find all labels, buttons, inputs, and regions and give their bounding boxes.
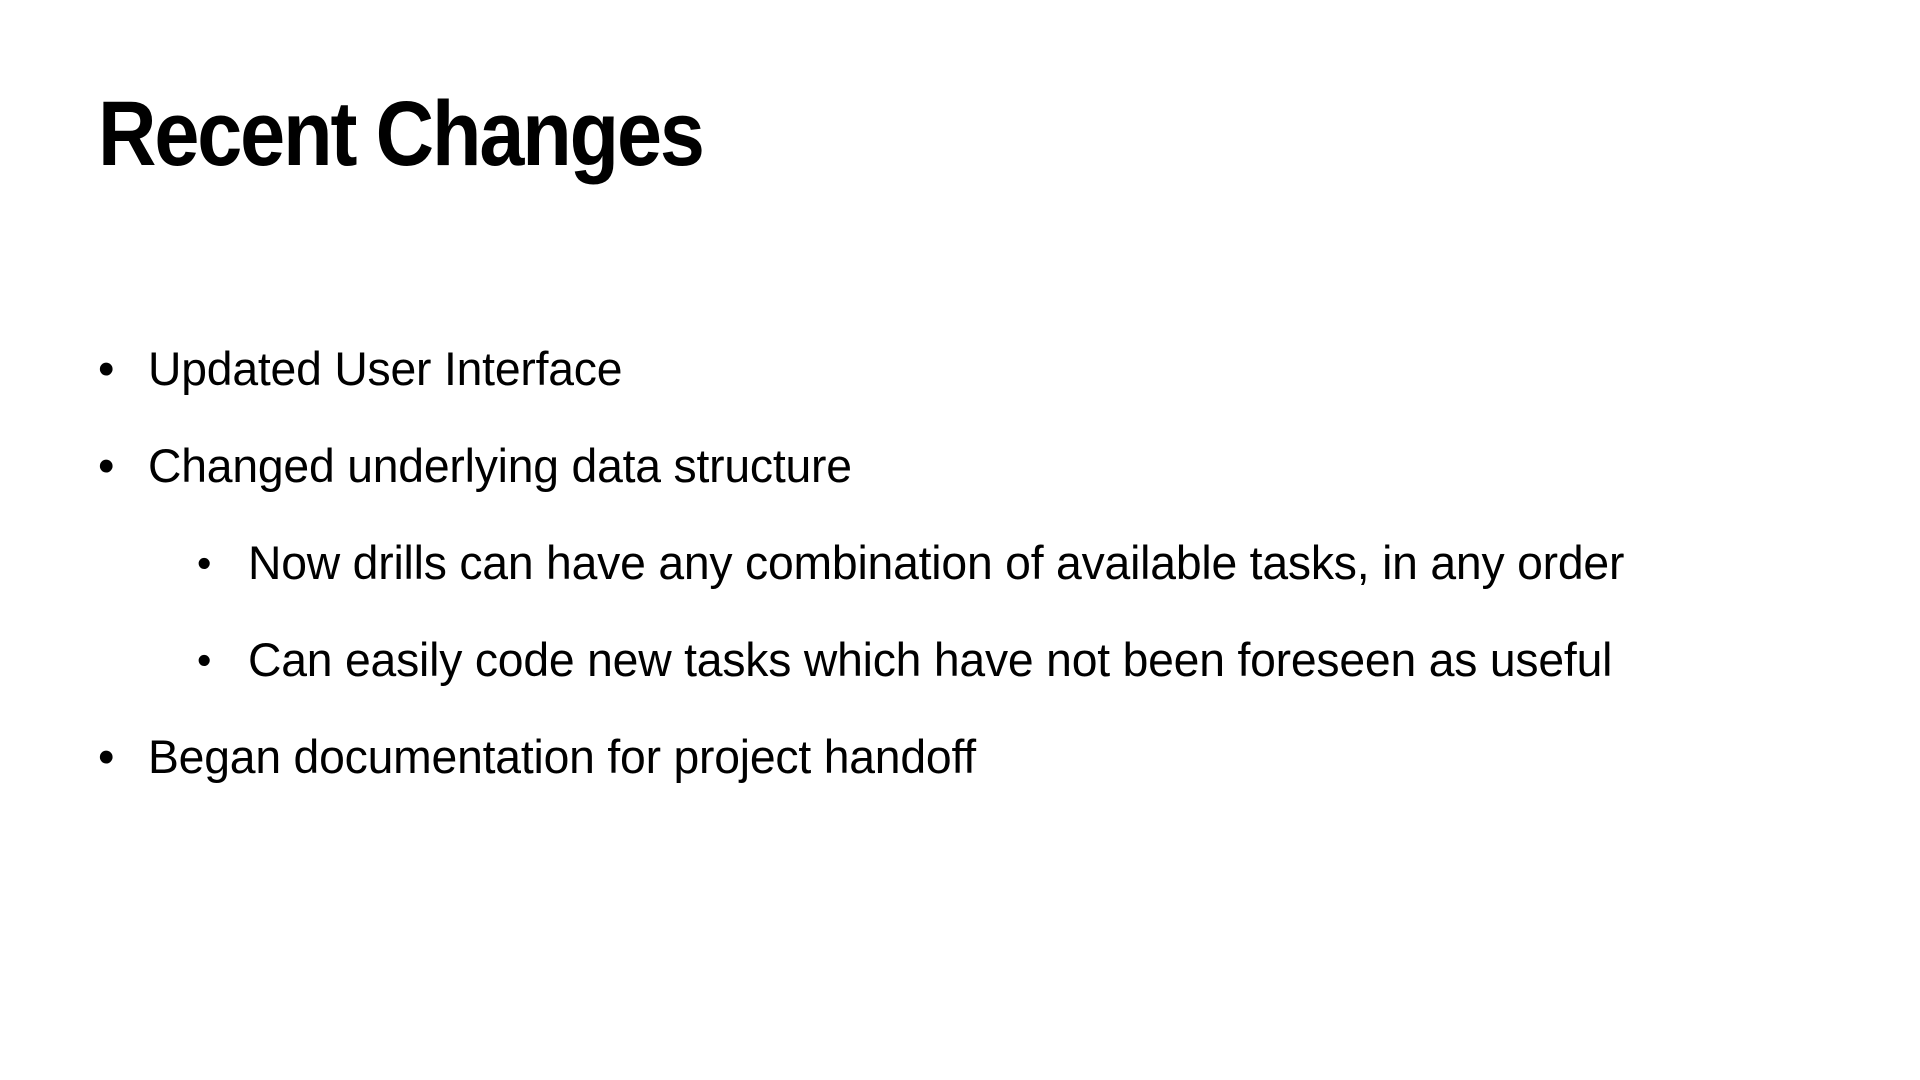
bullet-item-label: Began documentation for project handoff [148,726,976,788]
bullet-point-icon: • [197,532,211,594]
bullet-item: • Can easily code new tasks which have n… [0,629,1920,726]
bullet-item-label: Updated User Interface [148,338,622,400]
bullet-item: • Began documentation for project handof… [0,726,1920,823]
bullet-item-label: Now drills can have any combination of a… [248,532,1624,594]
bullet-point-icon: • [197,629,211,691]
bullet-item: • Changed underlying data structure [0,435,1920,532]
bullet-item: • Now drills can have any combination of… [0,532,1920,629]
slide-bullet-list: • Updated User Interface • Changed under… [0,338,1920,823]
bullet-point-icon: • [98,726,114,788]
bullet-item-label: Changed underlying data structure [148,435,852,497]
presentation-slide: Recent Changes • Updated User Interface … [0,0,1920,1080]
bullet-point-icon: • [98,338,114,400]
slide-title: Recent Changes [98,88,1612,180]
bullet-item: • Updated User Interface [0,338,1920,435]
bullet-item-label: Can easily code new tasks which have not… [248,629,1612,691]
bullet-point-icon: • [98,435,114,497]
